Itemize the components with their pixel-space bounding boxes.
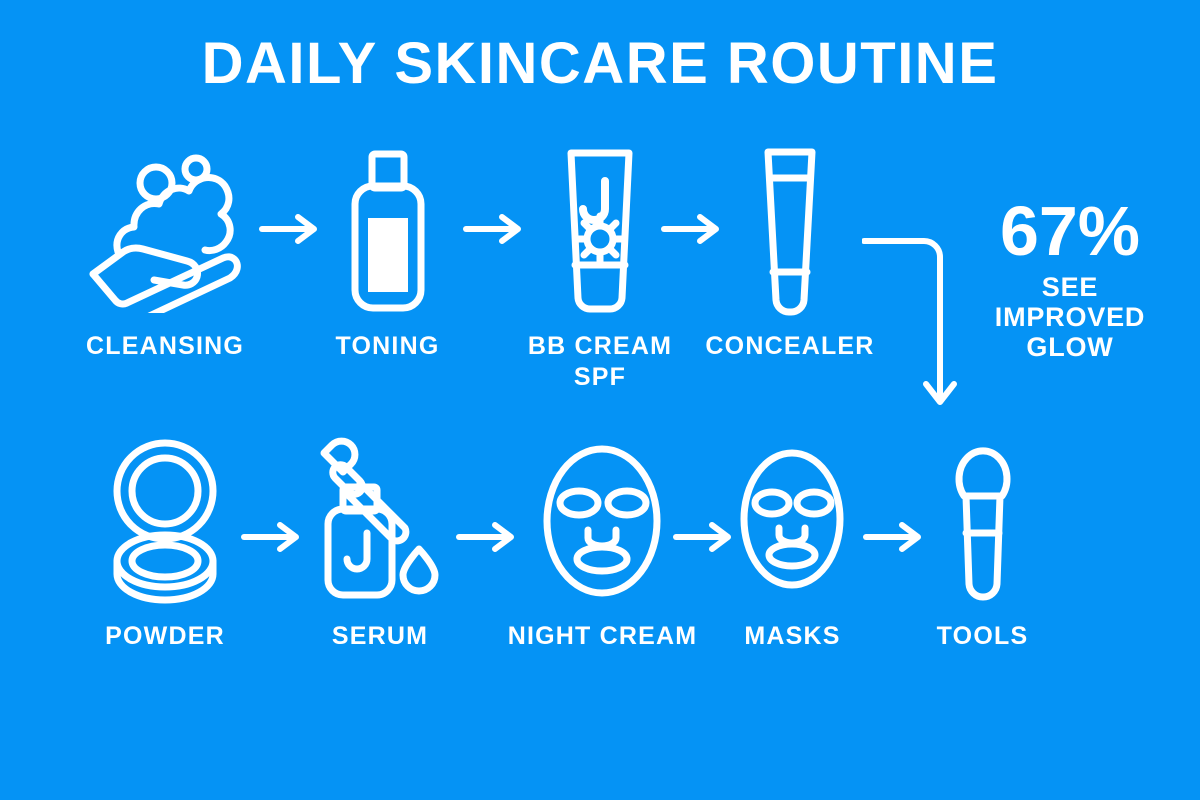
serum-dropper-icon	[295, 430, 465, 615]
powder-compact-icon	[70, 430, 260, 615]
step-label: CLEANSING	[55, 331, 275, 362]
elbow-arrow-down-icon	[862, 212, 972, 432]
step-label: SERUM	[295, 621, 465, 652]
face-mask-icon	[710, 430, 875, 615]
toner-bottle-icon	[295, 140, 480, 325]
step-bb-cream-spf[interactable]: BB CREAM SPF	[500, 140, 700, 394]
makeup-brush-icon	[900, 430, 1065, 615]
step-label: TONING	[295, 331, 480, 362]
concealer-tube-icon	[695, 140, 885, 325]
step-masks[interactable]: MASKS	[710, 430, 875, 652]
step-label: CONCEALER	[695, 331, 885, 362]
step-toning[interactable]: TONING	[295, 140, 480, 362]
step-powder[interactable]: POWDER	[70, 430, 260, 652]
step-concealer[interactable]: CONCEALER	[695, 140, 885, 362]
step-label: NIGHT CREAM	[495, 621, 710, 652]
page-title: DAILY SKINCARE ROUTINE	[0, 34, 1200, 95]
step-serum[interactable]: SERUM	[295, 430, 465, 652]
step-cleansing[interactable]: CLEANSING	[55, 140, 275, 362]
step-label: POWDER	[70, 621, 260, 652]
infographic-canvas: DAILY SKINCARE ROUTINE CLEANSING	[0, 0, 1200, 800]
hand-foam-icon	[55, 140, 275, 325]
stat-caption: SEE IMPROVED GLOW	[960, 272, 1180, 363]
step-label: BB CREAM SPF	[500, 331, 700, 394]
step-label: MASKS	[710, 621, 875, 652]
step-label: TOOLS	[900, 621, 1065, 652]
arrow-right-icon	[240, 520, 302, 559]
stat-block: 67% SEE IMPROVED GLOW	[960, 196, 1180, 363]
step-tools[interactable]: TOOLS	[900, 430, 1065, 652]
stat-value: 67%	[960, 196, 1180, 266]
